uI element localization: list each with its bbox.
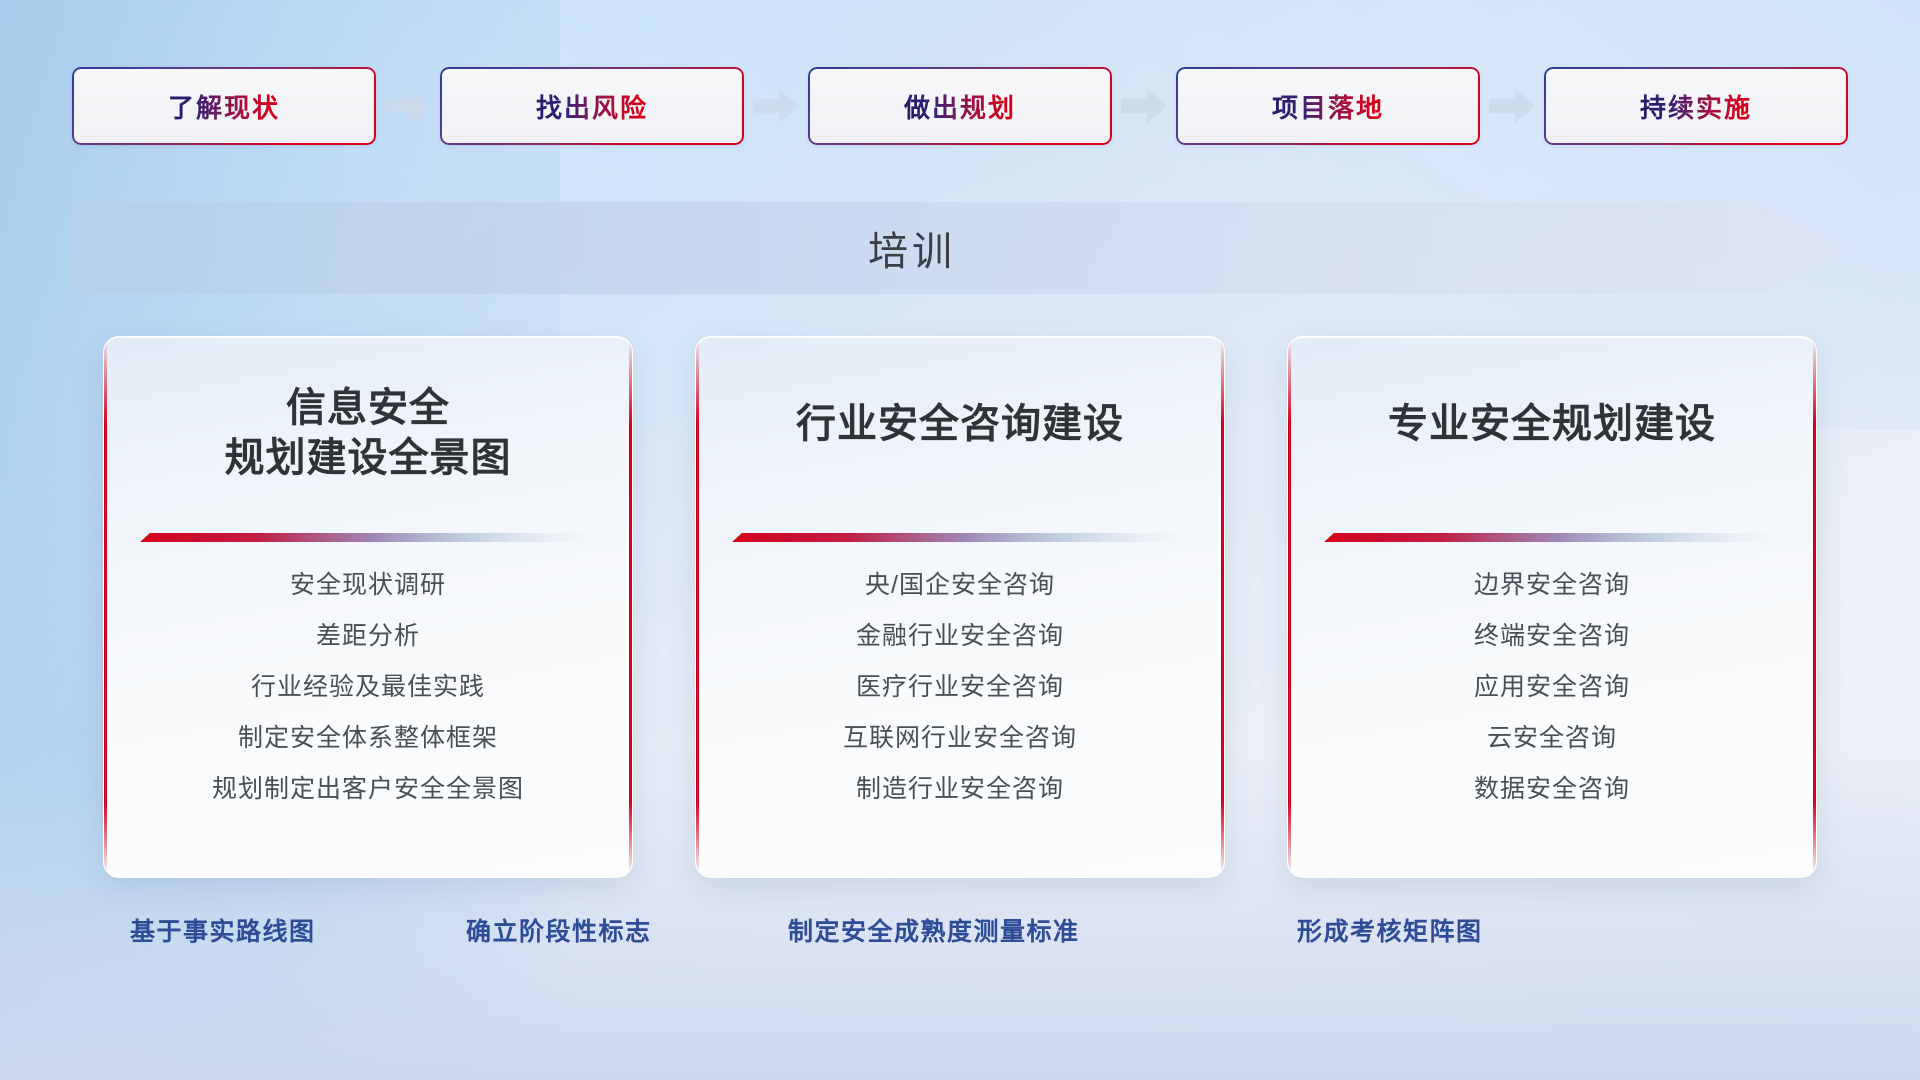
caption-2: 确立阶段性标志 (466, 912, 652, 948)
card-1-list: 安全现状调研 差距分析 行业经验及最佳实践 制定安全体系整体框架 规划制定出客户… (104, 573, 632, 828)
card-3-list-item-2: 终端安全咨询 (1288, 624, 1816, 649)
card-2-list-item-5: 制造行业安全咨询 (696, 777, 1224, 802)
card-3-list-item-1: 边界安全咨询 (1288, 573, 1816, 598)
card-1-title: 信息安全 规划建设全景图 (104, 383, 632, 484)
step-label-3: 做出规划 (904, 88, 1016, 125)
card-row: 信息安全 规划建设全景图 安全现状调研 差距分析 行业经验及最佳实践 制定安全体… (0, 336, 1920, 876)
step-box-1[interactable]: 了解现状 (72, 67, 376, 145)
card-3-list: 边界安全咨询 终端安全咨询 应用安全咨询 云安全咨询 数据安全咨询 (1288, 573, 1816, 828)
card-3-list-item-3: 应用安全咨询 (1288, 675, 1816, 700)
step-arrow-icon-3 (1112, 66, 1176, 146)
step-box-4[interactable]: 项目落地 (1176, 67, 1480, 145)
caption-4: 形成考核矩阵图 (1297, 912, 1483, 948)
training-banner-label: 培训 (868, 219, 956, 277)
step-arrow-icon-4 (1480, 66, 1544, 146)
step-label-5: 持续实施 (1640, 88, 1752, 125)
card-3[interactable]: 专业安全规划建设 边界安全咨询 终端安全咨询 应用安全咨询 云安全咨询 数据安全… (1287, 336, 1817, 878)
card-1-list-item-2: 差距分析 (104, 624, 632, 649)
card-2-list-item-1: 央/国企安全咨询 (696, 573, 1224, 598)
card-3-title: 专业安全规划建设 (1288, 399, 1816, 449)
card-1-divider (140, 531, 596, 547)
card-1-list-item-4: 制定安全体系整体框架 (104, 726, 632, 751)
card-2-list-item-2: 金融行业安全咨询 (696, 624, 1224, 649)
card-1-list-item-3: 行业经验及最佳实践 (104, 675, 632, 700)
card-3-divider (1324, 531, 1780, 547)
step-arrow-icon-1 (376, 66, 440, 146)
card-1[interactable]: 信息安全 规划建设全景图 安全现状调研 差距分析 行业经验及最佳实践 制定安全体… (103, 336, 633, 878)
card-2-list-item-4: 互联网行业安全咨询 (696, 726, 1224, 751)
card-2-divider (732, 531, 1188, 547)
card-1-list-item-1: 安全现状调研 (104, 573, 632, 598)
training-banner-label-wrap: 培训 (72, 202, 1752, 294)
card-2[interactable]: 行业安全咨询建设 央/国企安全咨询 金融行业安全咨询 医疗行业安全咨询 互联网行… (695, 336, 1225, 878)
caption-row: 基于事实路线图 确立阶段性标志 制定安全成熟度测量标准 形成考核矩阵图 (0, 912, 1920, 964)
card-3-list-item-4: 云安全咨询 (1288, 726, 1816, 751)
card-1-list-item-5: 规划制定出客户安全全景图 (104, 777, 632, 802)
step-box-3[interactable]: 做出规划 (808, 67, 1112, 145)
step-box-2[interactable]: 找出风险 (440, 67, 744, 145)
card-2-title: 行业安全咨询建设 (696, 399, 1224, 449)
card-2-list: 央/国企安全咨询 金融行业安全咨询 医疗行业安全咨询 互联网行业安全咨询 制造行… (696, 573, 1224, 828)
step-label-4: 项目落地 (1272, 88, 1384, 125)
training-banner: 培训 (72, 202, 1848, 294)
process-step-row: 了解现状 找出风险 做出规划 项目落地 持续实施 (0, 66, 1920, 146)
card-2-list-item-3: 医疗行业安全咨询 (696, 675, 1224, 700)
step-box-5[interactable]: 持续实施 (1544, 67, 1848, 145)
caption-1: 基于事实路线图 (130, 912, 316, 948)
step-label-1: 了解现状 (168, 88, 280, 125)
caption-3: 制定安全成熟度测量标准 (788, 912, 1080, 948)
step-label-2: 找出风险 (536, 88, 648, 125)
card-3-list-item-5: 数据安全咨询 (1288, 777, 1816, 802)
step-arrow-icon-2 (744, 66, 808, 146)
